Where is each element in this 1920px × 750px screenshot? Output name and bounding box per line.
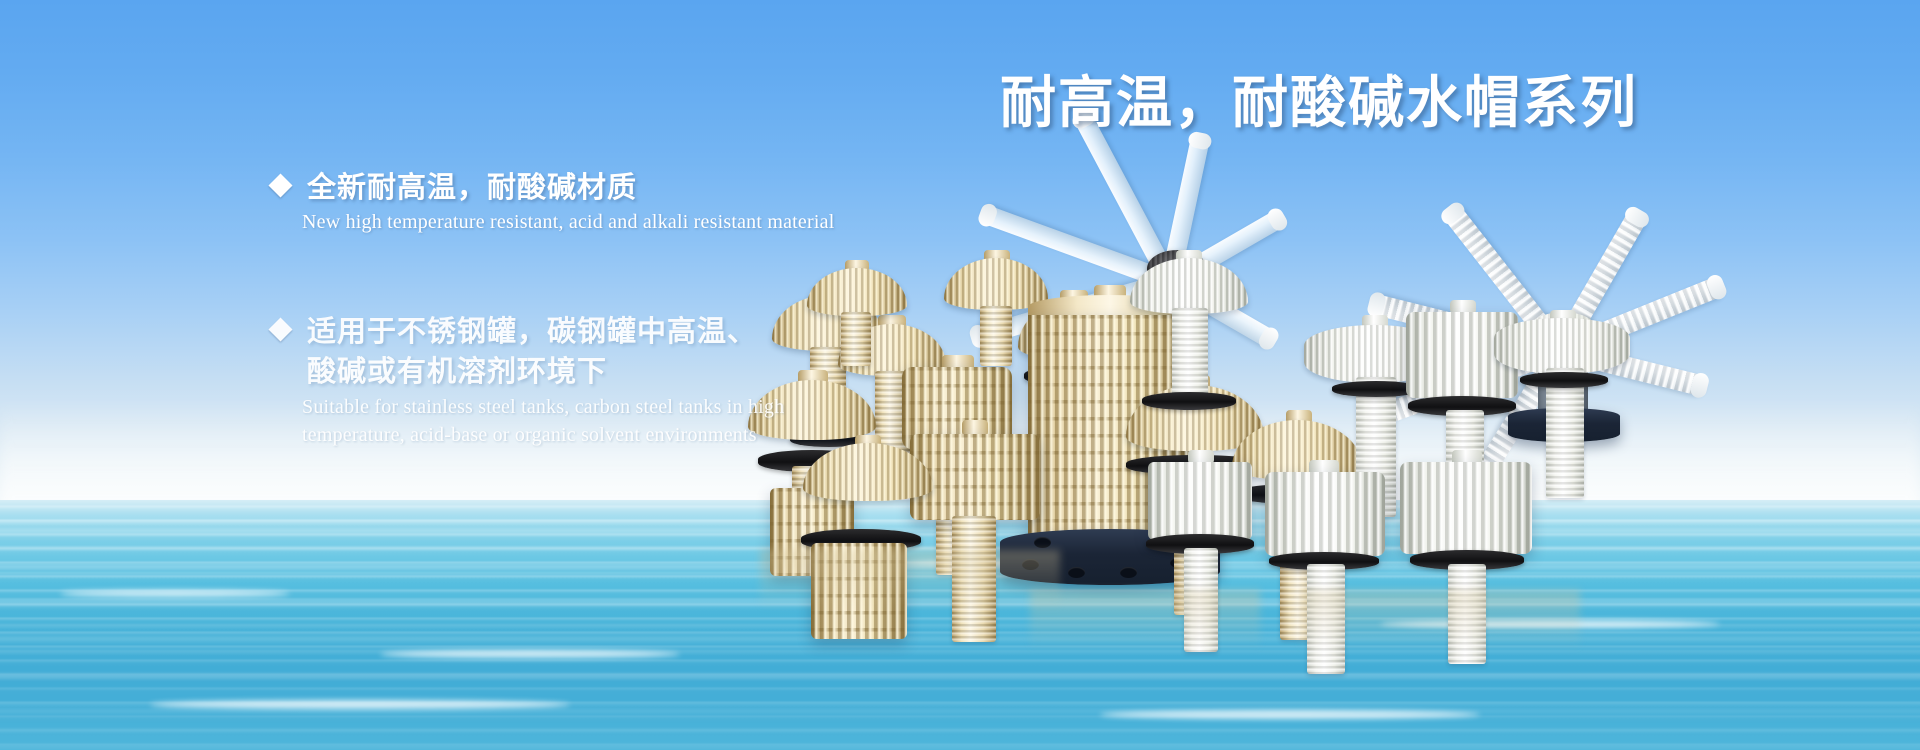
bullet-2-cn-line2: 酸碱或有机溶剂环境下 — [307, 352, 784, 392]
cap-stem — [1172, 308, 1208, 400]
cap-stem — [980, 306, 1012, 366]
cap-beige-g — [795, 260, 925, 410]
cap-ribbed-body — [1148, 462, 1252, 540]
product-banner: 耐高温，耐酸碱水帽系列 全新耐高温，耐酸碱材质 New high tempera… — [0, 0, 1920, 750]
product-reflection — [760, 550, 1060, 610]
bullet-2-en-line1: Suitable for stainless steel tanks, carb… — [302, 394, 784, 420]
diamond-bullet-icon — [268, 173, 292, 197]
product-reflection — [1030, 590, 1260, 650]
cap-dome — [807, 268, 907, 316]
cap-disc — [1494, 318, 1630, 374]
diamond-bullet-icon — [268, 317, 292, 341]
cap-dome — [803, 443, 933, 501]
bullet-1-en: New high temperature resistant, acid and… — [302, 209, 834, 235]
water-glint — [150, 700, 570, 709]
feature-bullet-2: 适用于不锈钢罐，碳钢罐中高温、 酸碱或有机溶剂环境下 Suitable for … — [272, 312, 784, 448]
banner-headline: 耐高温，耐酸碱水帽系列 — [1000, 58, 1638, 139]
product-group — [700, 120, 1920, 680]
flange-bolt — [1068, 567, 1085, 578]
water-glint — [380, 650, 680, 658]
cap-white-a — [1120, 250, 1260, 470]
bullet-2-en-line2: temperature, acid-base or organic solven… — [302, 422, 784, 448]
cap-dome — [1130, 258, 1248, 314]
cap-beige-i — [795, 435, 955, 650]
cap-gasket — [1142, 392, 1236, 410]
cap-stem — [841, 312, 871, 366]
bullet-2-cn-line1: 适用于不锈钢罐，碳钢罐中高温、 — [307, 312, 784, 352]
water-glint — [1100, 710, 1480, 719]
cap-white-g — [1490, 310, 1640, 540]
feature-bullet-1: 全新耐高温，耐酸碱材质 New high temperature resista… — [272, 168, 834, 235]
product-reflection — [1300, 590, 1580, 650]
cap-gasket — [1520, 372, 1608, 388]
cap-ribbed-body — [1265, 472, 1385, 556]
water-glint — [60, 590, 290, 597]
bullet-1-cn: 全新耐高温，耐酸碱材质 — [307, 168, 834, 208]
